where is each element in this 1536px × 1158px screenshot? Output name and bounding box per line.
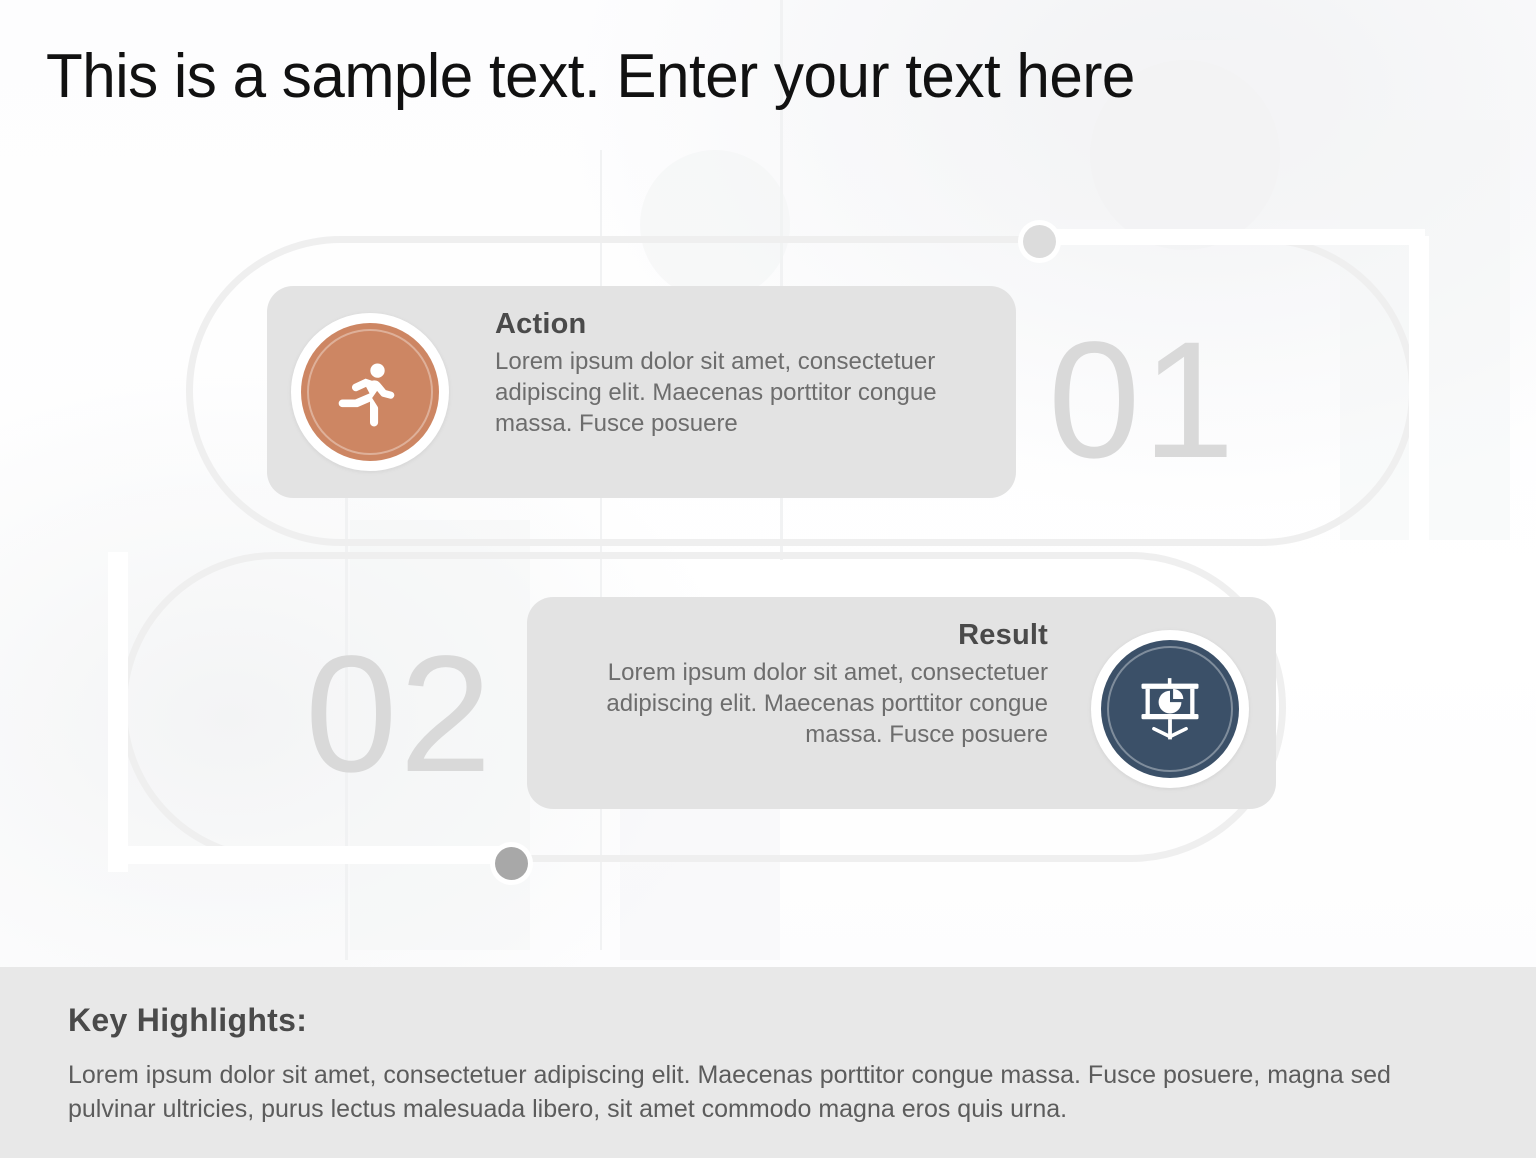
step-icon-badge-1[interactable] <box>291 313 449 471</box>
step-text-action: Lorem ipsum dolor sit amet, consectetuer… <box>495 347 994 439</box>
step-number-02: 02 <box>305 632 494 798</box>
key-highlights-band: Key Highlights: Lorem ipsum dolor sit am… <box>0 967 1536 1158</box>
step-text-result: Lorem ipsum dolor sit amet, consectetuer… <box>549 658 1048 750</box>
track-endpoint-dot-2 <box>495 847 528 880</box>
step-heading-action: Action <box>495 308 994 341</box>
track-line-2 <box>505 855 935 862</box>
track-mask <box>108 846 512 864</box>
presentation-pie-chart-icon <box>1101 640 1239 778</box>
step-card-body: Result Lorem ipsum dolor sit amet, conse… <box>549 619 1048 751</box>
track-mask <box>1409 236 1429 556</box>
track-mask <box>108 552 128 872</box>
running-person-icon <box>301 323 439 461</box>
step-card-body: Action Lorem ipsum dolor sit amet, conse… <box>495 308 994 440</box>
key-highlights-text: Lorem ipsum dolor sit amet, consectetuer… <box>68 1059 1478 1127</box>
track-mask <box>1035 229 1425 245</box>
step-number-01: 01 <box>1048 318 1237 484</box>
key-highlights-title: Key Highlights: <box>68 1002 307 1039</box>
step-heading-result: Result <box>549 619 1048 652</box>
process-diagram: 01 02 Action Lorem ipsum dolor sit amet,… <box>0 0 1536 967</box>
step-icon-badge-2[interactable] <box>1091 630 1249 788</box>
track-line-1 <box>600 236 1030 243</box>
track-endpoint-dot-1 <box>1023 225 1056 258</box>
